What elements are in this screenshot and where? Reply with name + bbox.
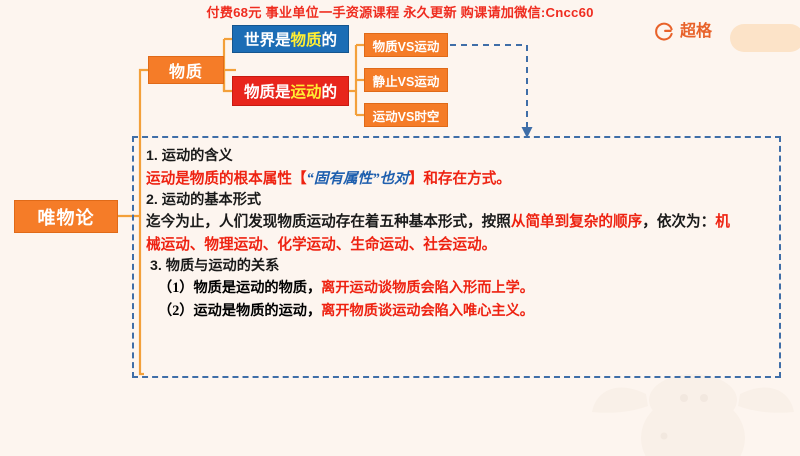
panel-line-4-b: 离开运动谈物质会陷入形而上学。 — [321, 280, 534, 296]
panel-heading-1: 1. 运动的含义 — [146, 146, 769, 168]
node-text-part-1: 物质是 — [244, 80, 291, 102]
panel-line-4-a: （1）物质是运动的物质， — [158, 280, 321, 296]
panel-line-3: 械运动、物理运动、化学运动、生命运动、社会运动。 — [146, 234, 769, 256]
detail-panel: 1. 运动的含义 运动是物质的根本属性【“固有属性”也对】和存在方式。 2. 运… — [132, 136, 781, 378]
panel-line-2-d: 机 — [715, 214, 730, 230]
node-wuzhi[interactable]: 物质 — [148, 56, 224, 84]
mindmap-slide: 付费68元 事业单位一手资源课程 永久更新 购课请加微信:Cncc60 超格 — [0, 0, 800, 450]
panel-line-5-a: （2）运动是物质的运动， — [158, 303, 321, 319]
panel-line-2: 迄今为止，人们发现物质运动存在着五种基本形式，按照从简单到复杂的顺序，依次为：机 — [146, 211, 769, 233]
node-text-highlight: 运动 — [290, 80, 321, 102]
panel-line-2-b: 从简单到复杂的顺序 — [511, 214, 642, 230]
node-matter-is-motion[interactable]: 物质是运动的 — [232, 76, 349, 106]
panel-heading-2: 2. 运动的基本形式 — [146, 190, 769, 212]
node-text-highlight: 物质 — [290, 28, 321, 50]
panel-line-1: 运动是物质的根本属性【“固有属性”也对】和存在方式。 — [146, 168, 769, 190]
panel-line-5-b: 离开物质谈运动会陷入唯心主义。 — [321, 303, 534, 319]
node-text-part-3: 的 — [322, 28, 338, 50]
node-matter-vs-motion[interactable]: 物质VS运动 — [364, 33, 448, 57]
node-text-part-1: 世界是 — [244, 28, 291, 50]
panel-line-2-c: ，依次为： — [642, 214, 715, 230]
panel-line-1-a: 运动是物质的根本属性【 — [146, 171, 307, 187]
node-text-part-3: 的 — [322, 80, 338, 102]
node-weiwulun[interactable]: 唯物论 — [14, 200, 118, 233]
panel-line-1-note: “固有属性”也对 — [307, 171, 409, 187]
panel-line-2-a: 迄今为止，人们发现物质运动存在着五种基本形式，按照 — [146, 214, 511, 230]
node-world-is-matter[interactable]: 世界是物质的 — [232, 25, 349, 53]
node-rest-vs-motion[interactable]: 静止VS运动 — [364, 68, 448, 92]
panel-heading-3: 3. 物质与运动的关系 — [146, 256, 769, 278]
panel-line-4: （1）物质是运动的物质，离开运动谈物质会陷入形而上学。 — [146, 277, 769, 300]
node-motion-vs-spacetime[interactable]: 运动VS时空 — [364, 103, 448, 127]
panel-line-5: （2）运动是物质的运动，离开物质谈运动会陷入唯心主义。 — [146, 300, 769, 323]
panel-line-1-c: 】和存在方式。 — [409, 171, 511, 187]
